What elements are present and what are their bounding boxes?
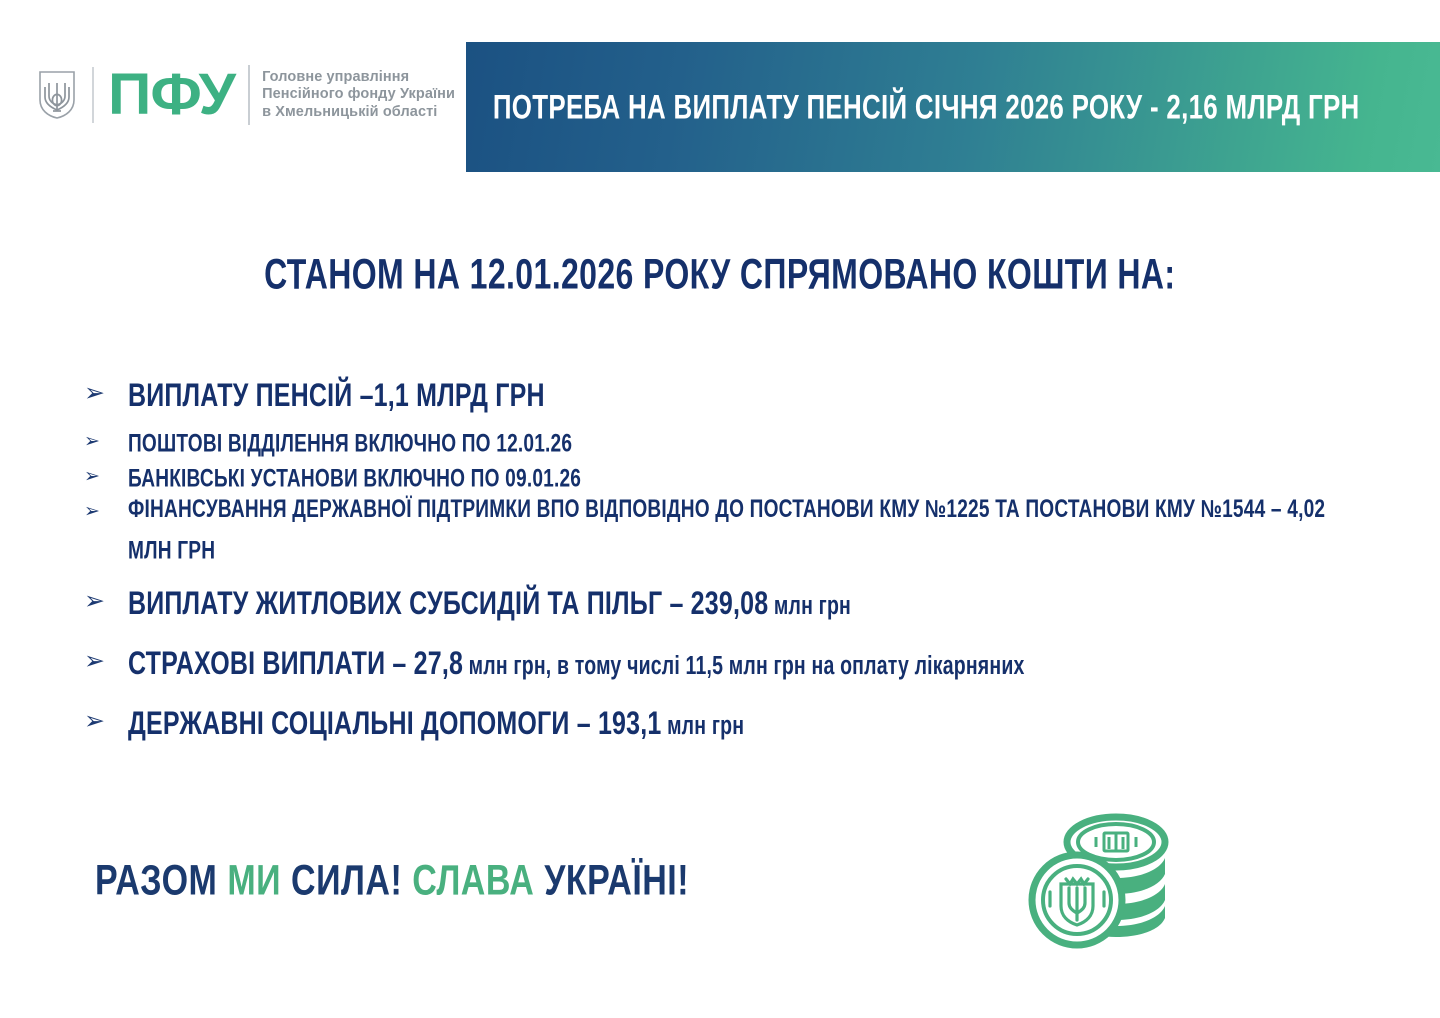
list-item-label: СТРАХОВІ ВИПЛАТИ – 27,8 <box>128 646 463 682</box>
list-item: ➢ФІНАНСУВАННЯ ДЕРЖАВНОЇ ПІДТРИМКИ ВПО ВІ… <box>84 498 1384 564</box>
slogan-word: МИ <box>227 857 281 906</box>
arrow-bullet-icon: ➢ <box>84 646 128 674</box>
logo-subtitle-line-3: в Хмельницькій області <box>262 104 455 122</box>
list-item: ➢ДЕРЖАВНІ СОЦІАЛЬНІ ДОПОМОГИ – 193,1 млн… <box>84 706 1384 744</box>
slogan-word: РАЗОМ <box>95 857 217 906</box>
ukraine-trident-shield-icon <box>38 70 76 120</box>
arrow-bullet-icon: ➢ <box>84 706 128 734</box>
slogan-word: УКРАЇНІ! <box>544 857 689 906</box>
list-item-body: ФІНАНСУВАННЯ ДЕРЖАВНОЇ ПІДТРИМКИ ВПО ВІД… <box>128 498 1384 564</box>
coin-stack-icon <box>1020 806 1190 951</box>
page-title: СТАНОМ НА 12.01.2026 РОКУ СПРЯМОВАНО КОШ… <box>0 255 1440 293</box>
list-item-body: ВИПЛАТУ ПЕНСІЙ –1,1 МЛРД ГРН <box>128 378 1384 414</box>
logo-divider-left <box>92 67 94 123</box>
logo-subtitle: Головне управління Пенсійного фонду Укра… <box>262 69 455 122</box>
arrow-bullet-icon: ➢ <box>84 428 128 451</box>
list-item-label: ДЕРЖАВНІ СОЦІАЛЬНІ ДОПОМОГИ – 193,1 <box>128 706 661 742</box>
pfu-abbreviation: ПФУ <box>108 66 235 124</box>
arrow-bullet-icon: ➢ <box>84 378 128 406</box>
list-item: ➢СТРАХОВІ ВИПЛАТИ – 27,8 млн грн, в тому… <box>84 646 1384 684</box>
list-item-body: ПОШТОВІ ВІДДІЛЕННЯ ВКЛЮЧНО ПО 12.01.26 <box>128 428 1384 461</box>
slogan: РАЗОМ МИ СИЛА! СЛАВА УКРАЇНІ! <box>95 862 689 901</box>
list-item: ➢ПОШТОВІ ВІДДІЛЕННЯ ВКЛЮЧНО ПО 12.01.26 <box>84 428 1384 461</box>
list-item: ➢ВИПЛАТУ ПЕНСІЙ –1,1 МЛРД ГРН <box>84 378 1384 414</box>
list-item: ➢ВИПЛАТУ ЖИТЛОВИХ СУБСИДІЙ ТА ПІЛЬГ – 23… <box>84 586 1384 624</box>
header-banner-title: ПОТРЕБА НА ВИПЛАТУ ПЕНСІЙ СІЧНЯ 2026 РОК… <box>466 87 1360 127</box>
list-item-body: ДЕРЖАВНІ СОЦІАЛЬНІ ДОПОМОГИ – 193,1 млн … <box>128 706 1384 744</box>
header-banner: ПОТРЕБА НА ВИПЛАТУ ПЕНСІЙ СІЧНЯ 2026 РОК… <box>466 42 1440 172</box>
slogan-word: СИЛА! <box>291 857 402 906</box>
list-item-unit: млн грн <box>768 592 851 620</box>
arrow-bullet-icon: ➢ <box>84 463 128 486</box>
logo-subtitle-line-1: Головне управління <box>262 69 455 87</box>
list-item-label: ФІНАНСУВАННЯ ДЕРЖАВНОЇ ПІДТРИМКИ ВПО ВІД… <box>128 496 1325 565</box>
list-item-body: ВИПЛАТУ ЖИТЛОВИХ СУБСИДІЙ ТА ПІЛЬГ – 239… <box>128 586 1384 624</box>
logo-divider-right <box>248 65 250 125</box>
list-item-label: ВИПЛАТУ ЖИТЛОВИХ СУБСИДІЙ ТА ПІЛЬГ – 239… <box>128 586 768 622</box>
page-header: ПФУ Головне управління Пенсійного фонду … <box>0 0 1440 180</box>
list-item-label: ВИПЛАТУ ПЕНСІЙ –1,1 МЛРД ГРН <box>128 378 545 414</box>
list-item-body: СТРАХОВІ ВИПЛАТИ – 27,8 млн грн, в тому … <box>128 646 1384 684</box>
pfu-logo: ПФУ Головне управління Пенсійного фонду … <box>38 52 455 138</box>
slogan-word: СЛАВА <box>412 857 534 906</box>
logo-subtitle-line-2: Пенсійного фонду України <box>262 86 455 104</box>
list-item-unit: млн грн, в тому числі 11,5 млн грн на оп… <box>463 652 1024 680</box>
list-item-unit: млн грн <box>661 712 744 740</box>
arrow-bullet-icon: ➢ <box>84 586 128 614</box>
page-title-text: СТАНОМ НА 12.01.2026 РОКУ СПРЯМОВАНО КОШ… <box>264 249 1175 298</box>
allocation-list: ➢ВИПЛАТУ ПЕНСІЙ –1,1 МЛРД ГРН➢ПОШТОВІ ВІ… <box>84 378 1384 750</box>
arrow-bullet-icon: ➢ <box>84 498 128 521</box>
list-item-label: ПОШТОВІ ВІДДІЛЕННЯ ВКЛЮЧНО ПО 12.01.26 <box>128 430 572 458</box>
